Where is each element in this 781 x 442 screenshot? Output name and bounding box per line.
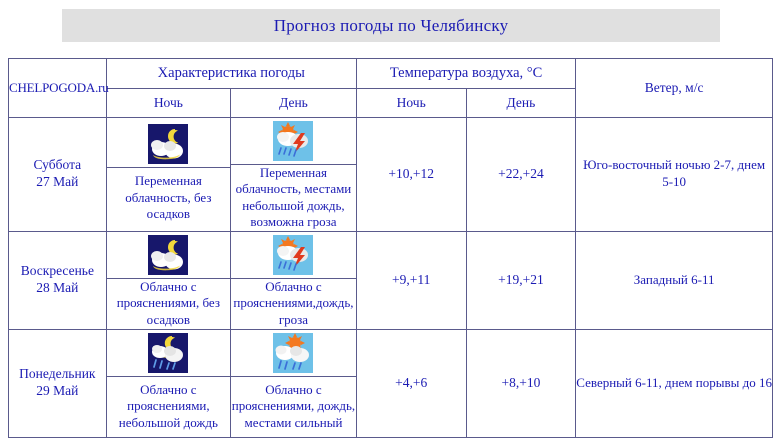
day-condition-text: Облачно с прояснениями,дождь, гроза [231, 278, 356, 329]
table-row: Воскресенье 28 Май [9, 231, 773, 329]
row-weekday: Понедельник [9, 366, 106, 383]
night-icon-cell [107, 121, 230, 168]
cell-conditions-night: Облачно с прояснениями, небольшой дождь [106, 329, 230, 437]
cell-temp-day: +22,+24 [466, 118, 576, 232]
sun-clouds-rain-icon [273, 333, 313, 373]
table-row: Суббота 27 Май [9, 118, 773, 232]
row-date: 29 Май [9, 383, 106, 400]
cell-conditions-day: Облачно с прояснениями, дождь, местами с… [231, 329, 357, 437]
day-condition-text: Переменная облачность, местами небольшой… [231, 165, 356, 231]
header-conditions: Характеристика погоды [106, 59, 356, 89]
row-date: 28 Май [9, 280, 106, 297]
header-wind: Ветер, м/с [576, 59, 773, 118]
night-condition-text: Облачно с прояснениями, без осадков [107, 278, 230, 329]
row-day-label: Понедельник 29 Май [9, 329, 107, 437]
table-row: Понедельник 29 Май [9, 329, 773, 437]
header-temperature: Температура воздуха, °C [356, 59, 575, 89]
day-icon-cell [231, 118, 356, 165]
moon-clouds-icon [148, 235, 188, 275]
cell-wind: Западный 6-11 [576, 231, 773, 329]
cell-conditions-day: Облачно с прояснениями,дождь, гроза [231, 231, 357, 329]
cell-conditions-day: Переменная облачность, местами небольшой… [231, 118, 357, 232]
cell-conditions-night: Переменная облачность, без осадков [106, 118, 230, 232]
night-icon-cell [107, 232, 230, 279]
cell-temp-day: +8,+10 [466, 329, 576, 437]
cell-temp-night: +9,+11 [356, 231, 466, 329]
moon-clouds-icon [148, 124, 188, 164]
header-conditions-day: День [231, 89, 357, 118]
page-title-banner: Прогноз погоды по Челябинску [62, 9, 720, 42]
sun-cloud-thunderstorm-icon [273, 121, 313, 161]
cell-temp-night: +10,+12 [356, 118, 466, 232]
row-weekday: Суббота [9, 157, 106, 174]
night-condition-text: Облачно с прояснениями, небольшой дождь [107, 376, 230, 437]
table-body: Суббота 27 Май [9, 118, 773, 438]
moon-clouds-rain-icon [148, 333, 188, 373]
cell-conditions-night: Облачно с прояснениями, без осадков [106, 231, 230, 329]
weather-forecast-page: Прогноз погоды по Челябинску CHELPOGODA.… [0, 0, 781, 442]
cell-temp-night: +4,+6 [356, 329, 466, 437]
row-date: 27 Май [9, 174, 106, 191]
cell-wind: Юго-восточный ночью 2-7, днем 5-10 [576, 118, 773, 232]
sun-cloud-thunderstorm-icon [273, 235, 313, 275]
row-day-label: Суббота 27 Май [9, 118, 107, 232]
row-day-label: Воскресенье 28 Май [9, 231, 107, 329]
forecast-table: CHELPOGODA.ru Характеристика погоды Темп… [8, 58, 773, 438]
site-logo[interactable]: CHELPOGODA.ru [9, 59, 107, 118]
header-temperature-day: День [466, 89, 576, 118]
day-icon-cell [231, 330, 356, 377]
row-weekday: Воскресенье [9, 263, 106, 280]
page-title: Прогноз погоды по Челябинску [274, 16, 509, 36]
night-condition-text: Переменная облачность, без осадков [107, 167, 230, 228]
day-condition-text: Облачно с прояснениями, дождь, местами с… [231, 376, 356, 437]
table-header: CHELPOGODA.ru Характеристика погоды Темп… [9, 59, 773, 118]
cell-wind: Северный 6-11, днем порывы до 16 [576, 329, 773, 437]
day-icon-cell [231, 232, 356, 279]
header-conditions-night: Ночь [106, 89, 230, 118]
cell-temp-day: +19,+21 [466, 231, 576, 329]
header-temperature-night: Ночь [356, 89, 466, 118]
night-icon-cell [107, 330, 230, 377]
